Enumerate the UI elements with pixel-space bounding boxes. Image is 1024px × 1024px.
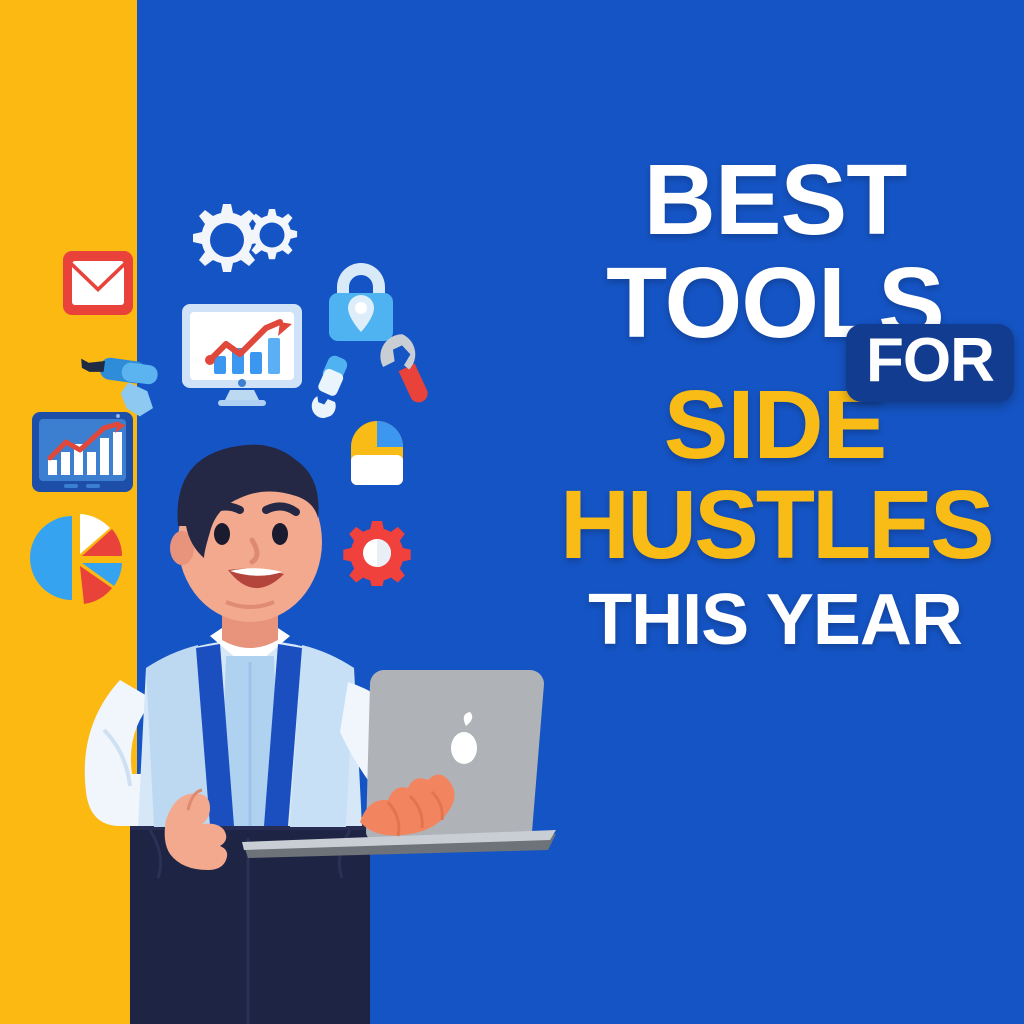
headline-line-hustles: HUSTLES bbox=[560, 478, 990, 572]
man-with-laptop bbox=[60, 430, 580, 1024]
mail-icon bbox=[62, 250, 134, 316]
headline-block: BEST TOOLS SIDE HUSTLES THIS YEAR bbox=[560, 150, 990, 710]
gears-icon bbox=[176, 192, 301, 297]
monitor-chart-icon bbox=[180, 302, 304, 406]
for-badge: FOR bbox=[846, 324, 1014, 402]
for-badge-label: FOR bbox=[866, 330, 994, 392]
headline-line-this-year: THIS YEAR bbox=[560, 586, 990, 656]
poster-canvas: BEST TOOLS SIDE HUSTLES THIS YEAR FOR bbox=[0, 0, 1024, 1024]
headline-line-best: BEST bbox=[560, 152, 990, 249]
